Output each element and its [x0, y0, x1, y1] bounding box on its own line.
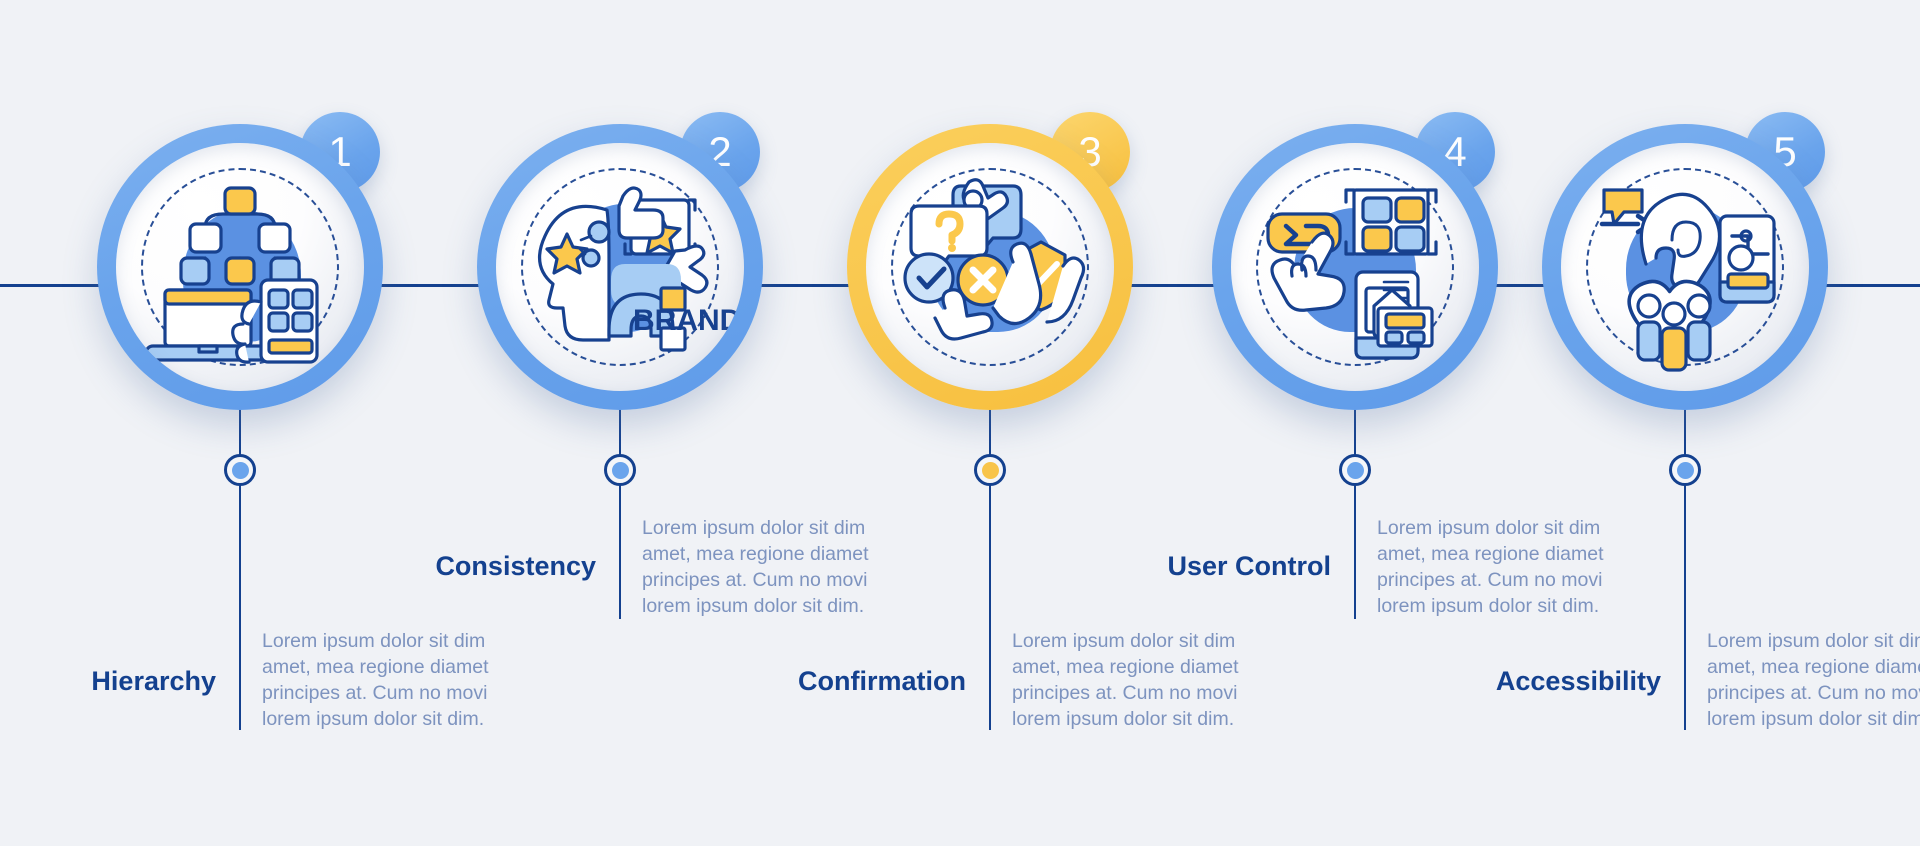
step-stem-lower-4	[1354, 484, 1356, 619]
ear-heart-wheelchair-icon	[1580, 162, 1790, 372]
brand-magnet-head-stars-icon: BRAND	[515, 162, 725, 372]
step-1[interactable]: 1	[50, 0, 430, 846]
step-5[interactable]: 5	[1495, 0, 1875, 846]
step-stem-lower-5	[1684, 484, 1686, 730]
step-stem-lower-2	[619, 484, 621, 619]
step-title-2: Consistency	[435, 553, 596, 580]
step-title-4: User Control	[1167, 553, 1331, 580]
step-ring-inner-3	[866, 143, 1114, 391]
step-stem-lower-1	[239, 484, 241, 730]
step-title-5: Accessibility	[1496, 668, 1661, 695]
step-ring-5[interactable]	[1542, 124, 1828, 410]
step-stem-lower-3	[989, 484, 991, 730]
step-ring-4[interactable]	[1212, 124, 1498, 410]
step-node-dot-2	[612, 462, 629, 479]
step-node-5[interactable]	[1669, 454, 1701, 486]
step-ring-3[interactable]	[847, 124, 1133, 410]
step-node-3[interactable]	[974, 454, 1006, 486]
infographic-canvas: 1	[0, 0, 1920, 846]
step-3[interactable]: 3	[800, 0, 1180, 846]
step-body-5: Lorem ipsum dolor sit dim amet, mea regi…	[1707, 628, 1920, 733]
step-node-4[interactable]	[1339, 454, 1371, 486]
hierarchy-tree-laptop-phone-icon	[135, 162, 345, 372]
step-node-dot-3	[982, 462, 999, 479]
undo-button-grid-pointer-icon	[1250, 162, 1460, 372]
step-node-1[interactable]	[224, 454, 256, 486]
step-ring-2[interactable]: BRAND	[477, 124, 763, 410]
step-ring-inner-2: BRAND	[496, 143, 744, 391]
brand-magnet-label: BRAND	[633, 304, 741, 337]
step-node-dot-5	[1677, 462, 1694, 479]
step-ring-inner-5	[1561, 143, 1809, 391]
step-ring-inner-1	[116, 143, 364, 391]
step-ring-1[interactable]	[97, 124, 383, 410]
step-ring-inner-4	[1231, 143, 1479, 391]
step-title-1: Hierarchy	[91, 668, 216, 695]
step-title-3: Confirmation	[798, 668, 966, 695]
step-node-dot-1	[232, 462, 249, 479]
step-node-dot-4	[1347, 462, 1364, 479]
step-2[interactable]: 2	[430, 0, 810, 846]
step-4[interactable]: 4	[1165, 0, 1545, 846]
step-node-2[interactable]	[604, 454, 636, 486]
question-check-cross-shield-icon	[885, 162, 1095, 372]
